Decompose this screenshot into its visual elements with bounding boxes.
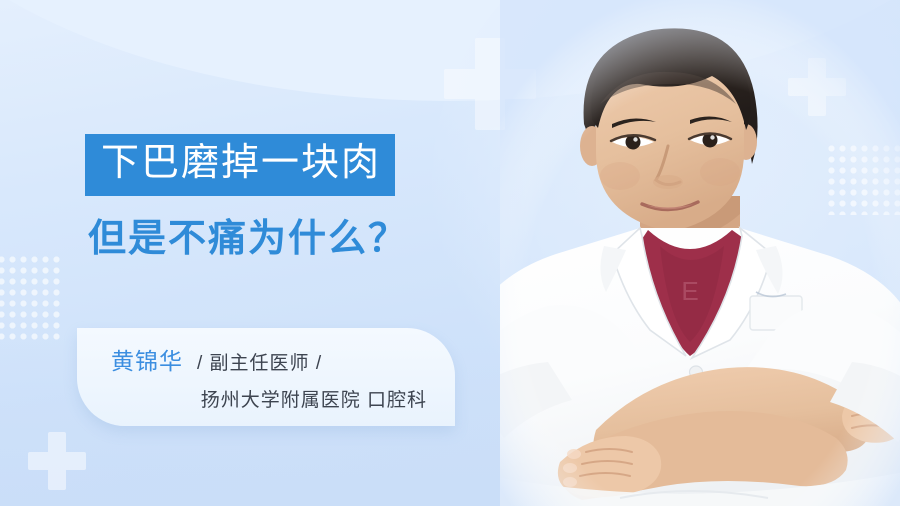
- dot-grid-pattern-left: [0, 254, 62, 340]
- cross-icon: [28, 432, 86, 490]
- headline-primary: 下巴磨掉一块肉: [85, 134, 395, 196]
- doctor-portrait: E: [500, 0, 900, 506]
- promo-banner: E: [0, 0, 900, 506]
- doctor-byline-card: 黄锦华 / 副主任医师 / 扬州大学附属医院 口腔科: [77, 328, 455, 426]
- byline-row-name: 黄锦华 / 副主任医师 /: [111, 342, 429, 376]
- doctor-affiliation: 扬州大学附属医院 口腔科: [111, 385, 429, 412]
- headline-primary-text: 下巴磨掉一块肉: [101, 144, 381, 182]
- doctor-name: 黄锦华: [111, 342, 183, 376]
- doctor-title: / 副主任医师 /: [197, 348, 322, 375]
- headline-secondary: 但是不痛为什么？: [88, 214, 408, 265]
